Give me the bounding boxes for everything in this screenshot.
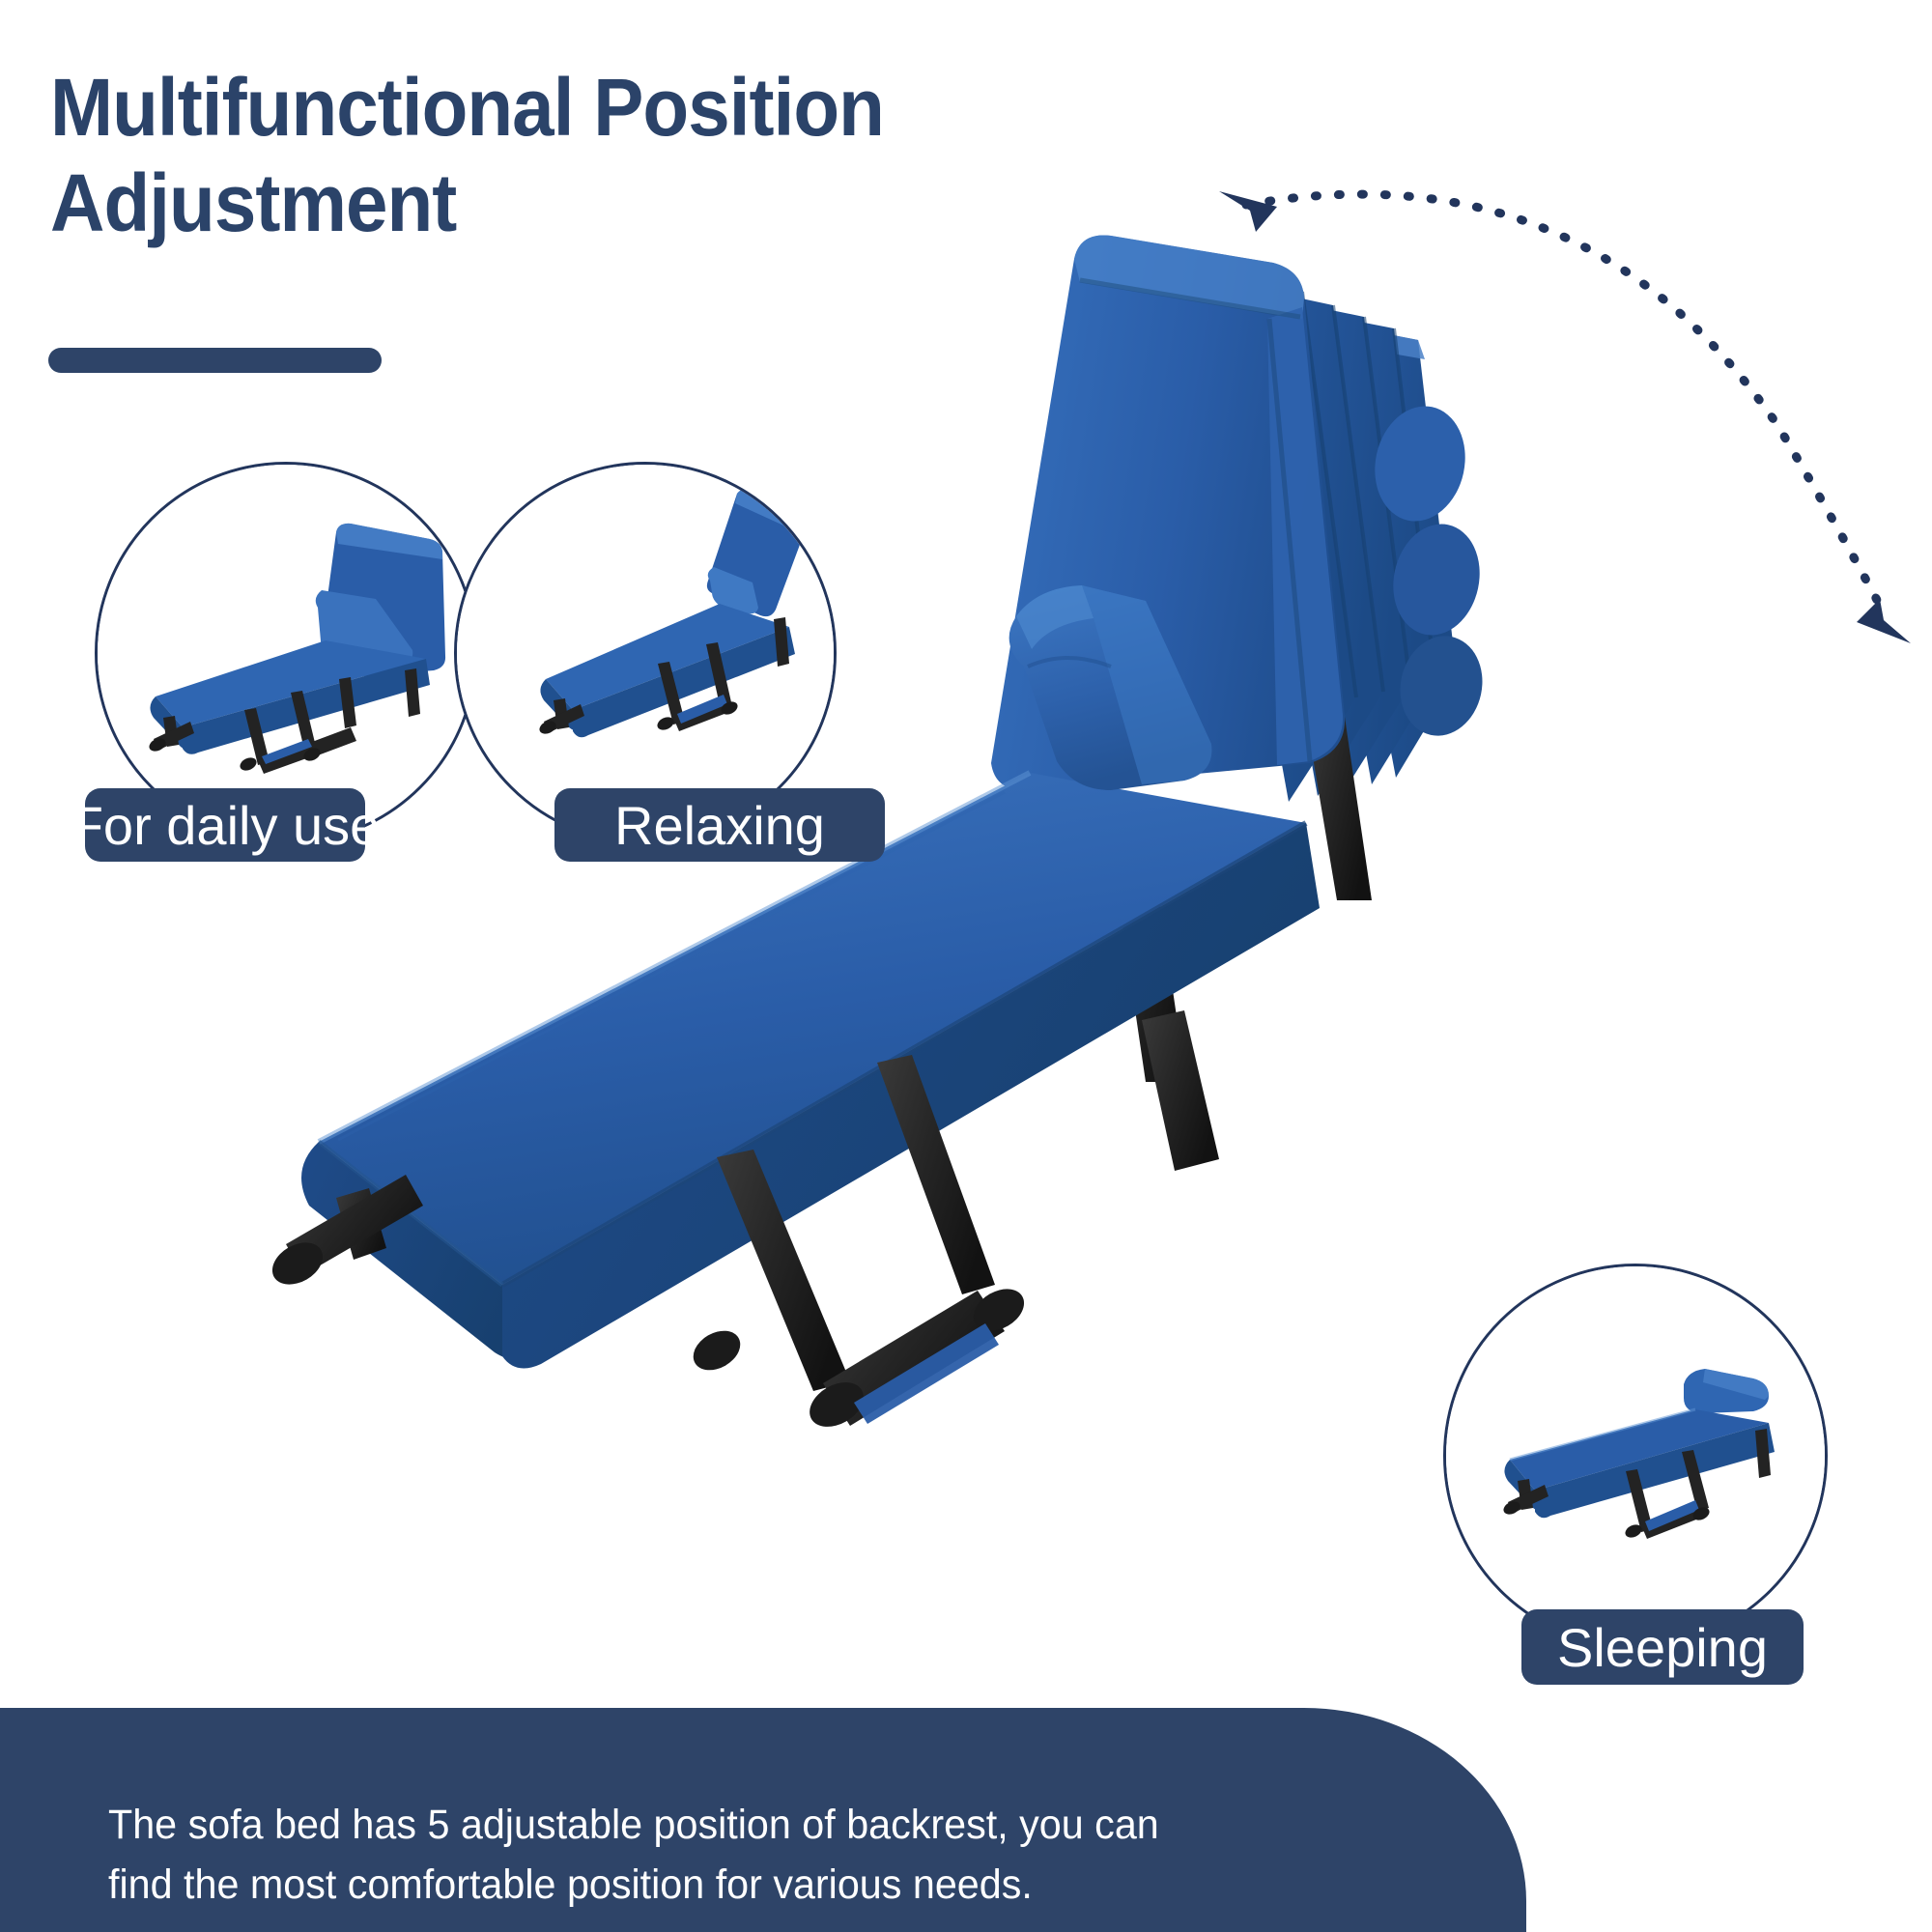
infographic-canvas: Multifunctional Position Adjustment [0, 0, 1932, 1932]
dotted-double-arrow-icon [1219, 191, 1911, 643]
main-backrest [991, 236, 1345, 791]
chaise-upright-icon [98, 465, 474, 841]
badge-sleeping[interactable]: Sleeping [1521, 1609, 1804, 1685]
page-title: Multifunctional Position Adjustment [50, 60, 1110, 251]
title-underline-rule [48, 348, 382, 373]
front-leg-frame [265, 1010, 1219, 1435]
thumbnail-sleeping[interactable] [1443, 1264, 1828, 1648]
backrest-fan-positions [1192, 269, 1492, 802]
footer-description: The sofa bed has 5 adjustable position o… [108, 1795, 1314, 1916]
lumbar-pillow [1009, 585, 1212, 790]
badge-relaxing[interactable]: Relaxing [554, 788, 885, 862]
badge-for-daily-use[interactable]: For daily use [85, 788, 365, 862]
thumbnail-daily-use[interactable] [95, 462, 477, 844]
bed-flat-icon [1446, 1266, 1825, 1645]
thumbnail-relaxing[interactable] [454, 462, 837, 844]
chaise-reclined-icon [457, 465, 834, 841]
rear-legs [1109, 717, 1372, 1082]
seat-mattress [301, 773, 1320, 1369]
